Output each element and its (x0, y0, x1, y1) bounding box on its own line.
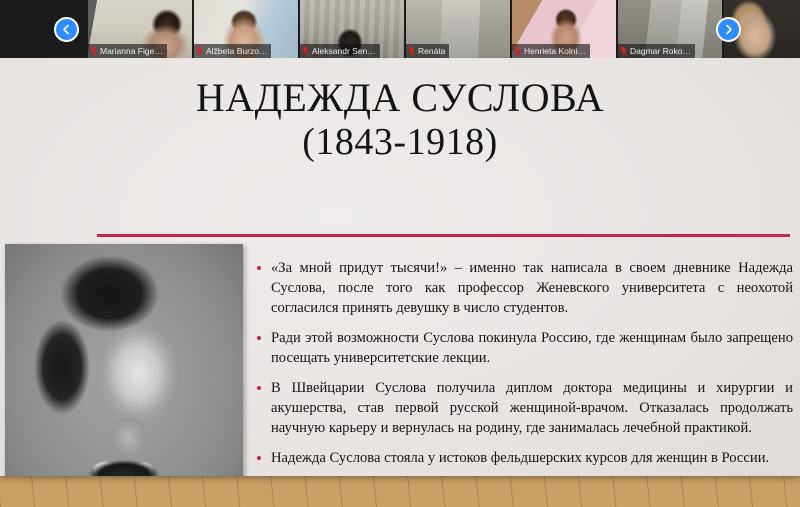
filmstrip-next-button[interactable] (716, 17, 741, 42)
participant-name: Alžbeta Burzo… (206, 44, 267, 58)
bullet-item: Надежда Суслова стояла у истоков фельдше… (255, 448, 793, 468)
slide-title-name: НАДЕЖДА СУСЛОВА (196, 75, 604, 120)
microphone-muted-icon (90, 46, 97, 56)
participant-name-bar: Renáta (406, 44, 449, 58)
chevron-right-icon (723, 24, 734, 35)
slide-title-years: (1843-1918) (0, 121, 800, 164)
participant-name-bar: Henrieta Kolni… (512, 44, 590, 58)
microphone-muted-icon (302, 46, 309, 56)
participant-name-bar: Marianna Fige… (88, 44, 167, 58)
chevron-left-icon (61, 24, 72, 35)
participant-tile[interactable]: Renáta (406, 0, 510, 58)
filmstrip-prev-button[interactable] (54, 17, 79, 42)
participant-filmstrip: Marianna Fige… Alžbeta Burzo… (0, 0, 800, 58)
bullet-item: «За мной придут тысячи!» – именно так на… (255, 258, 793, 318)
participant-name: Dagmar Roko… (630, 44, 691, 58)
participant-name: Henrieta Kolni… (524, 44, 586, 58)
participant-tiles: Marianna Fige… Alžbeta Burzo… (88, 0, 800, 58)
bullet-item: Ради этой возможности Суслова покинула Р… (255, 328, 793, 368)
microphone-muted-icon (196, 46, 203, 56)
portrait-photo (5, 244, 243, 476)
slide-body: «За мной придут тысячи!» – именно так на… (255, 258, 793, 468)
participant-name: Aleksandr Sen… (312, 44, 376, 58)
shared-screen-area: НАДЕЖДА СУСЛОВА (1843-1918) «За мной при… (0, 58, 800, 507)
presentation-slide: НАДЕЖДА СУСЛОВА (1843-1918) «За мной при… (0, 58, 800, 476)
participant-tile[interactable]: Henrieta Kolni… (512, 0, 616, 58)
slide-title: НАДЕЖДА СУСЛОВА (1843-1918) (0, 76, 800, 163)
zoom-screen-share-window: Marianna Fige… Alžbeta Burzo… (0, 0, 800, 507)
participant-name: Renáta (418, 44, 445, 58)
microphone-muted-icon (408, 46, 415, 56)
participant-tile[interactable]: Aleksandr Sen… (300, 0, 404, 58)
microphone-muted-icon (620, 46, 627, 56)
bullet-item: В Швейцарии Суслова получила диплом докт… (255, 378, 793, 438)
participant-name-bar: Aleksandr Sen… (300, 44, 380, 58)
portrait-image (5, 244, 243, 476)
title-divider (97, 234, 790, 237)
microphone-muted-icon (514, 46, 521, 56)
participant-tile[interactable]: Dagmar Roko… (618, 0, 722, 58)
participant-tile[interactable]: Alžbeta Burzo… (194, 0, 298, 58)
participant-name: Marianna Fige… (100, 44, 163, 58)
participant-tile[interactable]: Marianna Fige… (88, 0, 192, 58)
participant-name-bar: Alžbeta Burzo… (194, 44, 271, 58)
participant-name-bar: Dagmar Roko… (618, 44, 695, 58)
